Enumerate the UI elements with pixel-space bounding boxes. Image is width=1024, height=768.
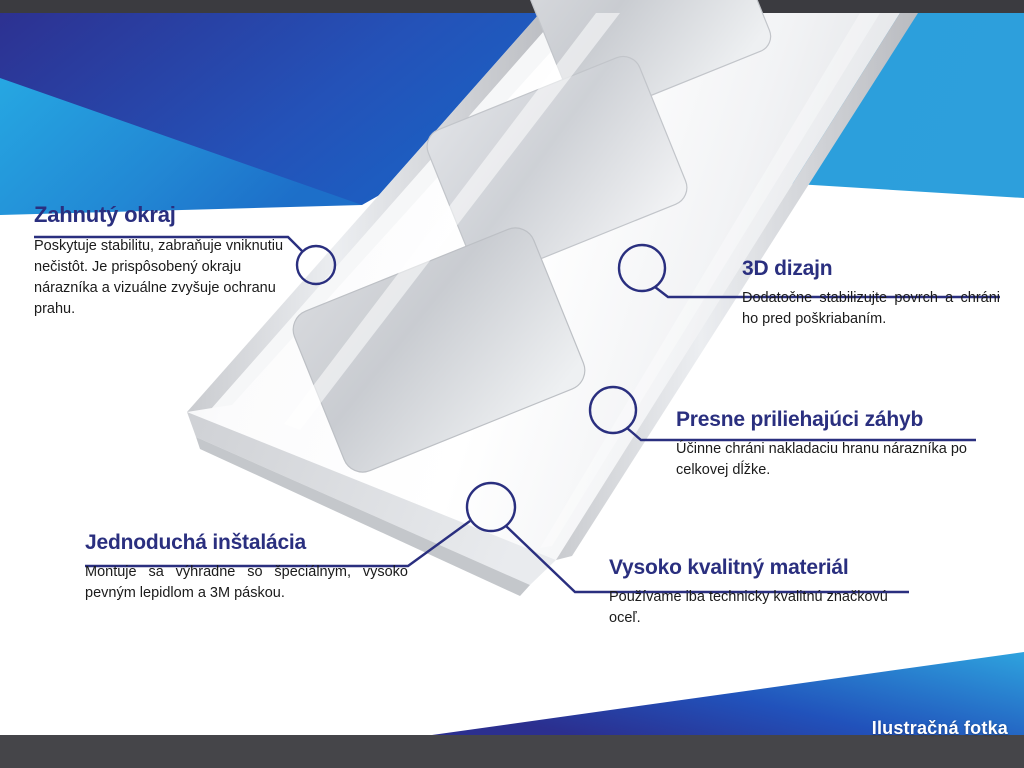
callout-circle-vysoko-kvalitny-material[interactable] xyxy=(467,483,515,531)
callout-title-3d-dizajn: 3D dizajn xyxy=(742,257,1000,280)
infographic-canvas: Zahnutý okraj Poskytuje stabilitu, zabra… xyxy=(0,0,1024,768)
callout-presne-priliehajuci-zahyb: Presne priliehajúci záhyb Účinne chráni … xyxy=(676,408,976,481)
callout-title-zahnuty-okraj: Zahnutý okraj xyxy=(34,203,292,227)
callout-circle-3d-dizajn[interactable] xyxy=(619,245,665,291)
callout-body-3d-dizajn: Dodatočne stabilizujte povrch a chráni h… xyxy=(742,283,1000,330)
callout-title-jednoducha-instalacia: Jednoduchá inštalácia xyxy=(85,531,408,554)
callout-circle-zahnuty-okraj[interactable] xyxy=(297,246,335,284)
callout-body-jednoducha-instalacia: Montuje sa výhradne so špeciálnym, vysok… xyxy=(85,557,408,604)
callout-jednoducha-instalacia: Jednoduchá inštalácia Montuje sa výhradn… xyxy=(85,531,408,604)
callout-title-presne-priliehajuci-zahyb: Presne priliehajúci záhyb xyxy=(676,408,976,431)
callout-body-presne-priliehajuci-zahyb: Účinne chráni nakladaciu hranu nárazníka… xyxy=(676,434,976,481)
callout-3d-dizajn: 3D dizajn Dodatočne stabilizujte povrch … xyxy=(742,257,1000,330)
callout-body-vysoko-kvalitny-material: Používame iba technicky kvalitnú značkov… xyxy=(609,582,909,629)
callout-connectors xyxy=(0,0,1024,768)
callout-title-vysoko-kvalitny-material: Vysoko kvalitný materiál xyxy=(609,556,909,579)
illustrative-photo-watermark: Ilustračná fotka xyxy=(872,718,1008,739)
callout-zahnuty-okraj: Zahnutý okraj Poskytuje stabilitu, zabra… xyxy=(34,203,292,320)
callout-vysoko-kvalitny-material: Vysoko kvalitný materiál Používame iba t… xyxy=(609,556,909,629)
callout-body-zahnuty-okraj: Poskytuje stabilitu, zabraňuje vniknutiu… xyxy=(34,230,292,320)
callout-circle-presne-priliehajuci-zahyb[interactable] xyxy=(590,387,636,433)
